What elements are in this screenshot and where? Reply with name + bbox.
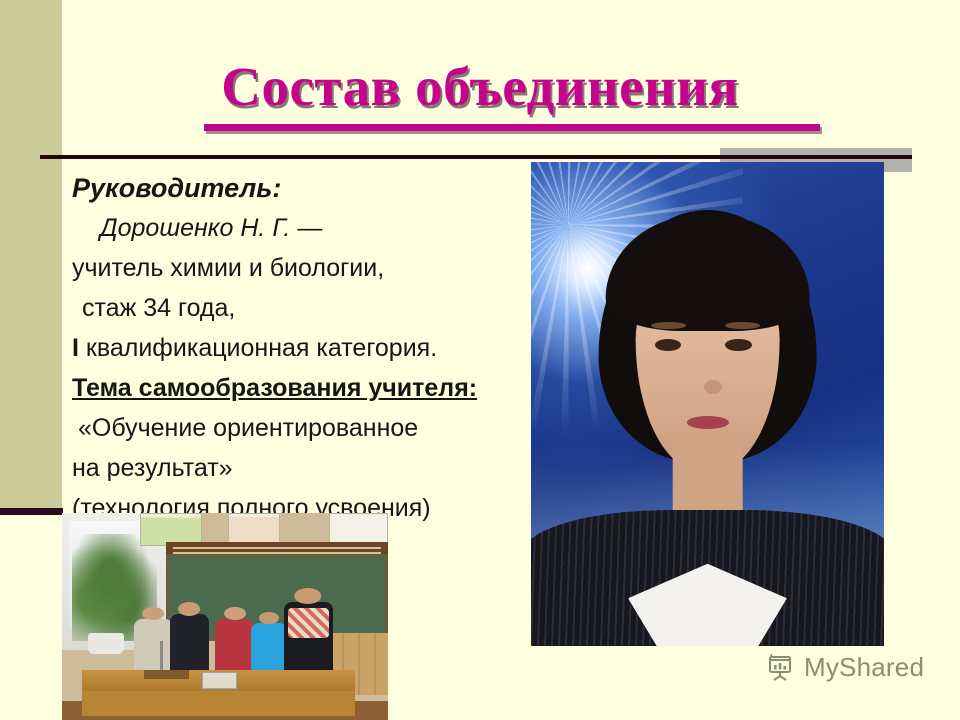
presentation-slide: Состав объединения Руководитель: Дорошен… [0,0,960,720]
self-education-heading-text: Тема самообразования учителя: [72,374,477,402]
title-underline [204,124,820,131]
watermark-label: MyShared [804,652,924,683]
roman-numeral-one: I [72,334,79,362]
portrait-eye-left [655,339,681,352]
classroom-flower-pot [88,633,124,654]
line-subject: учитель химии и биологии, [72,248,532,288]
qualification-rest: квалификационная категория. [79,334,437,362]
portrait-eye-right [725,339,751,352]
line-role-label: Руководитель: [72,168,532,208]
slide-body-text: Руководитель: Дорошенко Н. Г. — учитель … [72,168,532,528]
myshared-watermark: MyShared [766,652,924,683]
classroom-lesson-photo [62,513,388,720]
portrait-nose [704,380,722,395]
left-accent-bar [0,508,63,515]
line-teacher-name: Дорошенко Н. Г. — [72,208,532,248]
portrait-mouth [686,416,728,429]
classroom-lab-base [144,670,190,678]
header-divider-rule [40,155,912,159]
line-experience: стаж 34 года, [72,288,532,328]
slide-title: Состав объединения [0,55,960,118]
presentation-chart-icon [766,654,796,682]
classroom-glassware [202,672,237,688]
line-topic-part2: на результат» [72,448,532,488]
line-topic-part1: «Обучение ориентированное [72,408,532,448]
line-self-education-heading: Тема самообразования учителя: [72,368,532,408]
classroom-demo-table-front [82,691,356,716]
line-qualification: I квалификационная категория. [72,328,532,368]
portrait-neck [672,443,743,520]
teacher-portrait-photo [531,162,884,646]
